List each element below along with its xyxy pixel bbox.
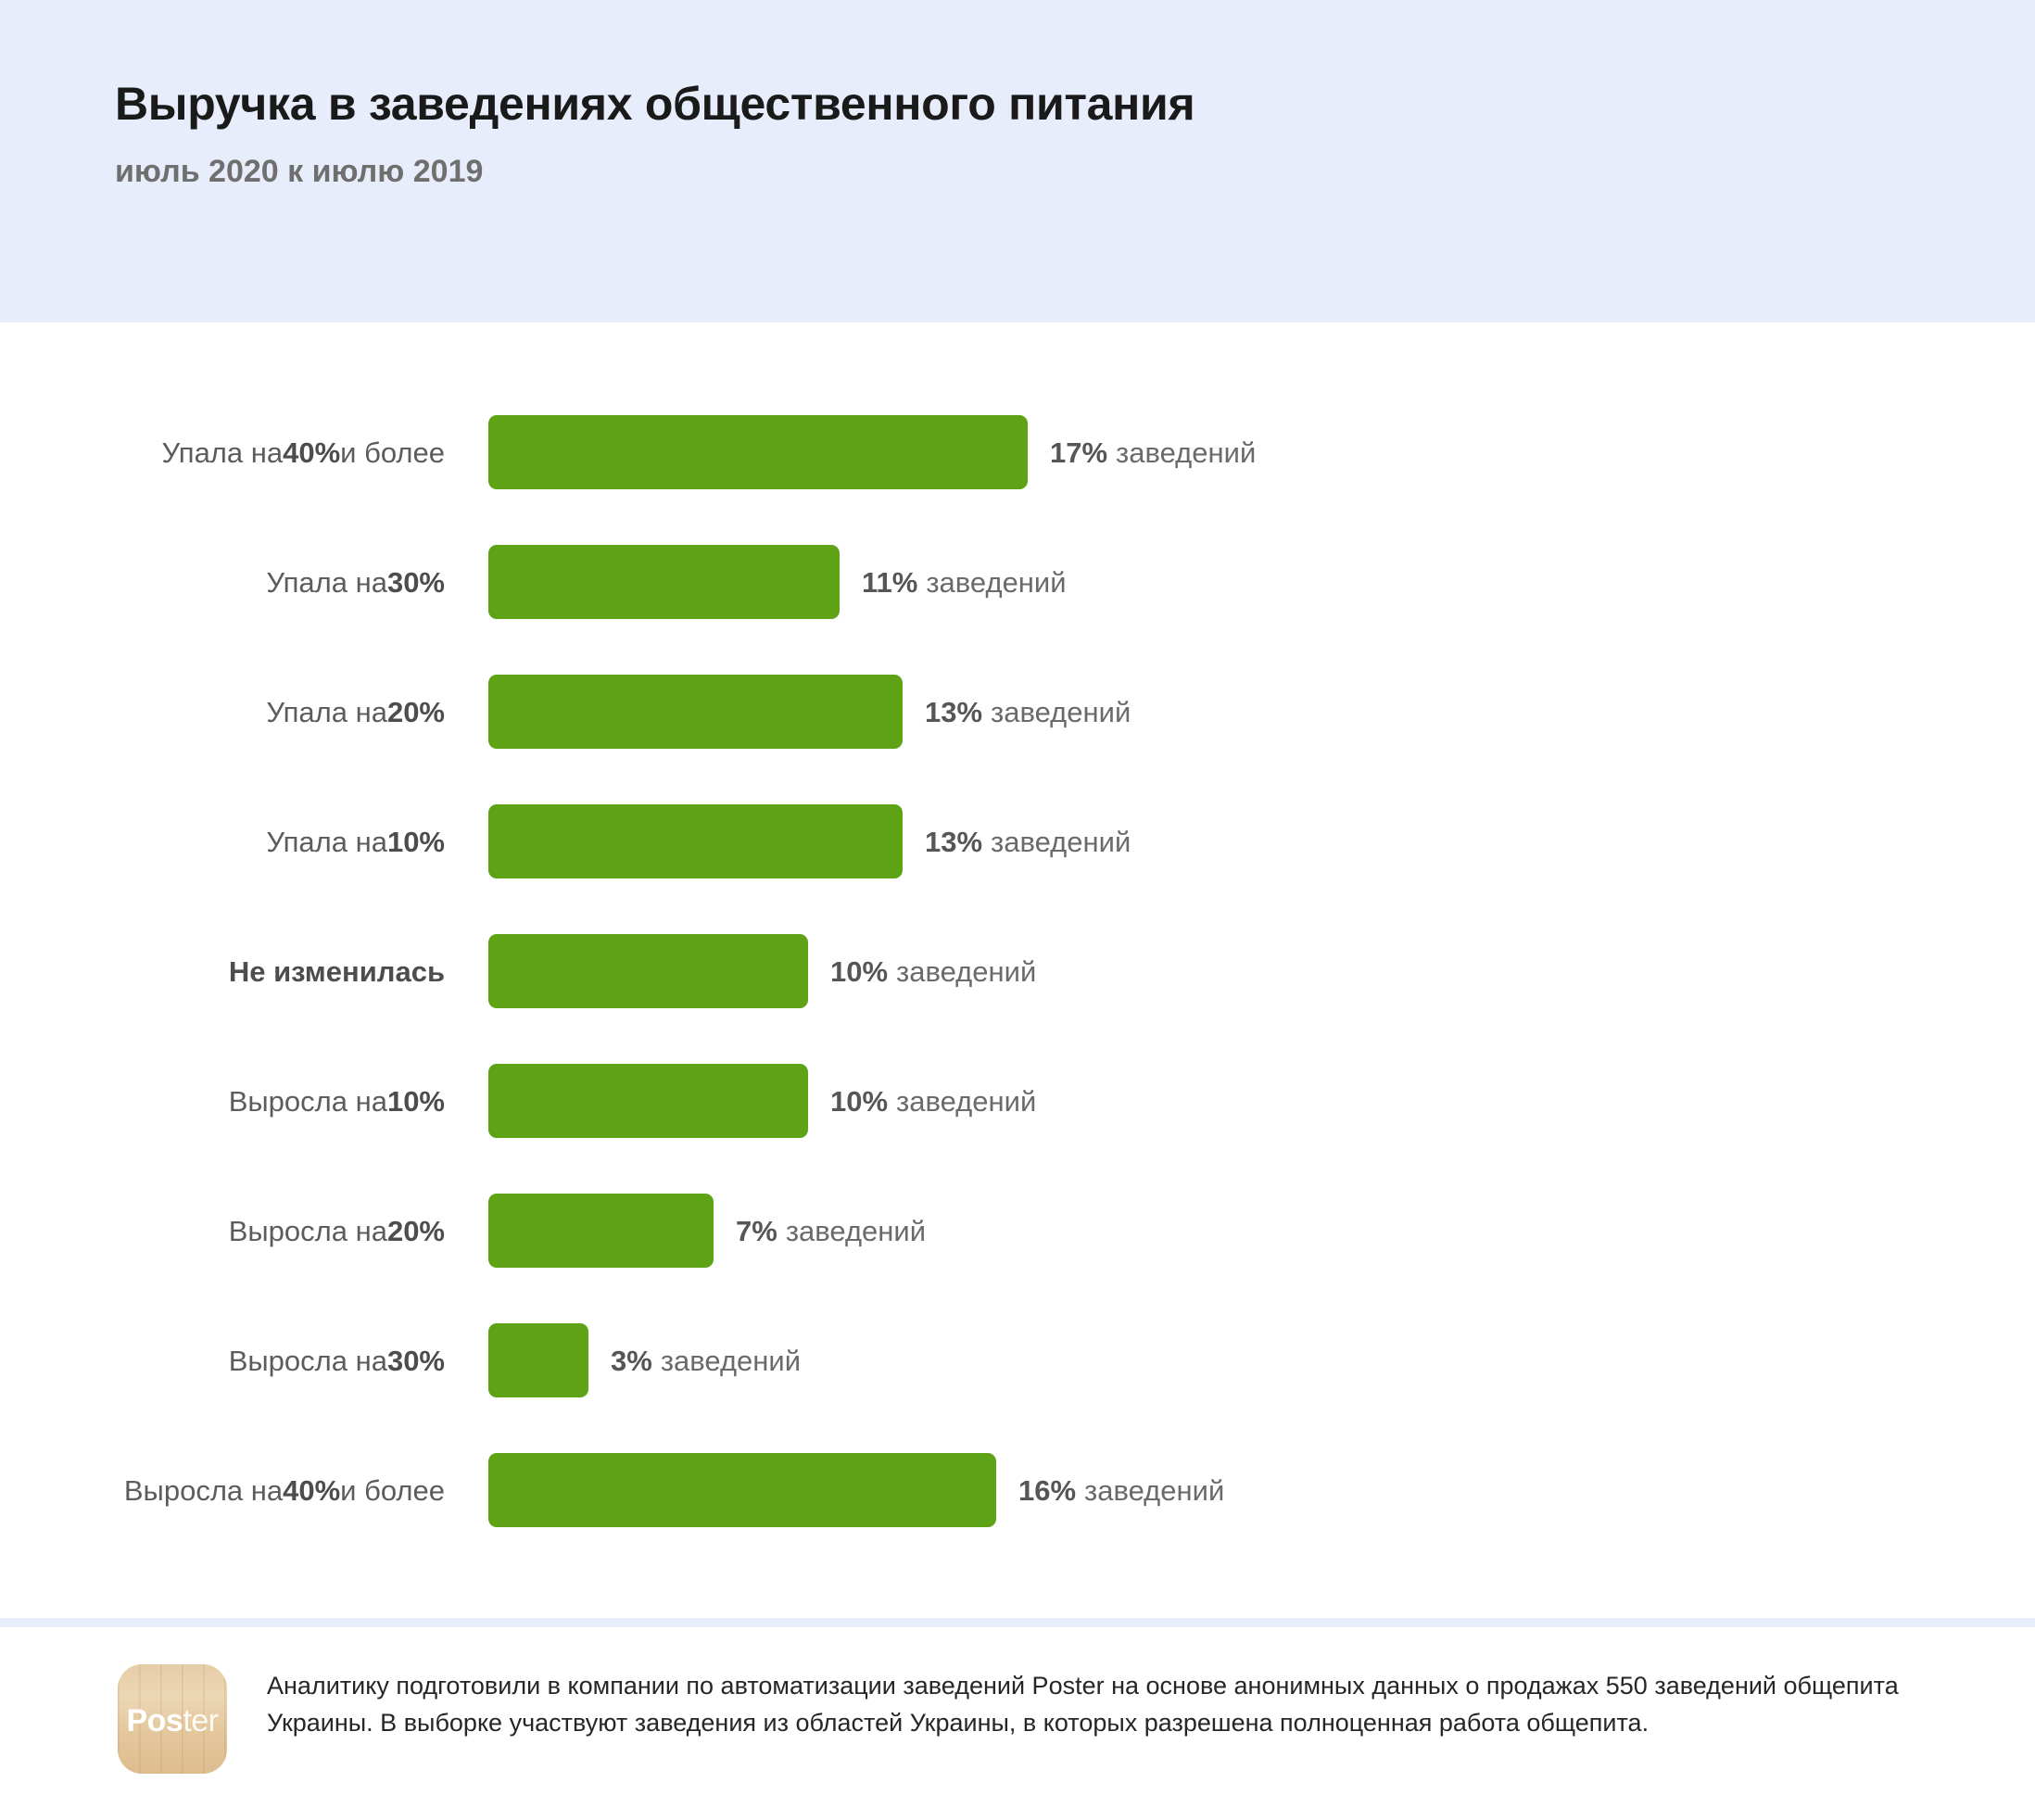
bar-value-number: 13% [925,828,982,856]
chart-row: Выросла на 10%10%заведений [0,1064,2035,1138]
footer: Poster Аналитику подготовили в компании … [0,1627,2035,1820]
bar-value-number: 10% [830,1087,888,1116]
bar-value-unit: заведений [896,1087,1036,1116]
chart-row: Не изменилась10%заведений [0,934,2035,1008]
bar-value-unit: заведений [991,828,1131,856]
bar-value-label: 13%заведений [925,675,1131,749]
bar [488,1064,808,1138]
header-text-group: Выручка в заведениях общественного питан… [115,80,1194,189]
bar-label-prefix: Упала на [266,698,387,727]
bar-value-label: 16%заведений [1018,1453,1224,1527]
bar-value-unit: заведений [1084,1476,1224,1505]
bar-value-label: 7%заведений [736,1194,926,1268]
bar-label-prefix: Упала на [266,568,387,597]
bar-value-label: 13%заведений [925,804,1131,878]
bar-label: Выросла на 20% [0,1194,445,1268]
bar-label-prefix: Выросла на [229,1346,387,1375]
bar [488,545,840,619]
poster-logo-text: Poster [126,1705,218,1737]
bar-label: Упала на 40% и более [0,415,445,489]
bar-value-label: 3%заведений [611,1323,801,1397]
bar [488,934,808,1008]
chart-row: Выросла на 40% и более16%заведений [0,1453,2035,1527]
infographic-page: Выручка в заведениях общественного питан… [0,0,2035,1820]
bar-value-unit: заведений [1116,438,1256,467]
bar-chart: Упала на 40% и более17%заведенийУпала на… [0,322,2035,1618]
bar [488,804,903,878]
bar-label: Не изменилась [0,934,445,1008]
bar-value-label: 10%заведений [830,1064,1036,1138]
bar-label-emphasis: 40% [283,438,340,467]
bar-label-emphasis: 30% [387,1346,445,1375]
bar-value-label: 11%заведений [862,545,1067,619]
header-band: Выручка в заведениях общественного питан… [0,0,2035,322]
footer-divider [0,1618,2035,1627]
bar-value-number: 11% [862,568,917,597]
bar-value-unit: заведений [926,568,1066,597]
bar-value-unit: заведений [661,1346,801,1375]
bar-value-number: 16% [1018,1476,1076,1505]
bar-value-number: 13% [925,698,982,727]
bar-label-prefix: Упала на [266,828,387,856]
bar-label-emphasis: 30% [387,568,445,597]
bar-value-number: 3% [611,1346,652,1375]
chart-row: Упала на 30%11%заведений [0,545,2035,619]
bar-value-number: 17% [1050,438,1107,467]
bar-label-prefix: Упала на [161,438,283,467]
bar-value-label: 17%заведений [1050,415,1256,489]
bar-label-emphasis: 20% [387,698,445,727]
bar [488,1323,588,1397]
bar [488,1453,996,1527]
poster-logo-pos: Pos [126,1703,183,1738]
bar [488,675,903,749]
bar-label-emphasis: Не изменилась [229,957,445,986]
bar-value-number: 7% [736,1217,777,1245]
bar-value-unit: заведений [786,1217,926,1245]
poster-logo-ter: ter [183,1703,218,1738]
bar-value-unit: заведений [991,698,1131,727]
bar-label-emphasis: 10% [387,1087,445,1116]
bar-label: Выросла на 30% [0,1323,445,1397]
chart-row: Упала на 10%13%заведений [0,804,2035,878]
bar-label-emphasis: 20% [387,1217,445,1245]
chart-row: Выросла на 20%7%заведений [0,1194,2035,1268]
bar-value-number: 10% [830,957,888,986]
bar-label: Выросла на 40% и более [0,1453,445,1527]
bar-label: Упала на 10% [0,804,445,878]
chart-row: Упала на 40% и более17%заведений [0,415,2035,489]
poster-logo: Poster [118,1664,227,1774]
bar-value-unit: заведений [896,957,1036,986]
bar-label-suffix: и более [340,438,445,467]
bar-label-emphasis: 40% [283,1476,340,1505]
page-title: Выручка в заведениях общественного питан… [115,80,1194,129]
bar-label-prefix: Выросла на [229,1217,387,1245]
bar [488,1194,714,1268]
chart-row: Упала на 20%13%заведений [0,675,2035,749]
chart-row: Выросла на 30%3%заведений [0,1323,2035,1397]
bar-label: Упала на 20% [0,675,445,749]
bar-label-prefix: Выросла на [229,1087,387,1116]
bar-label-prefix: Выросла на [124,1476,283,1505]
bar-value-label: 10%заведений [830,934,1036,1008]
page-subtitle: июль 2020 к июлю 2019 [115,155,1194,189]
bar-label: Выросла на 10% [0,1064,445,1138]
bar-label-emphasis: 10% [387,828,445,856]
bar-label-suffix: и более [340,1476,445,1505]
footer-caption: Аналитику подготовили в компании по авто… [267,1668,1935,1742]
bar-label: Упала на 30% [0,545,445,619]
bar [488,415,1028,489]
